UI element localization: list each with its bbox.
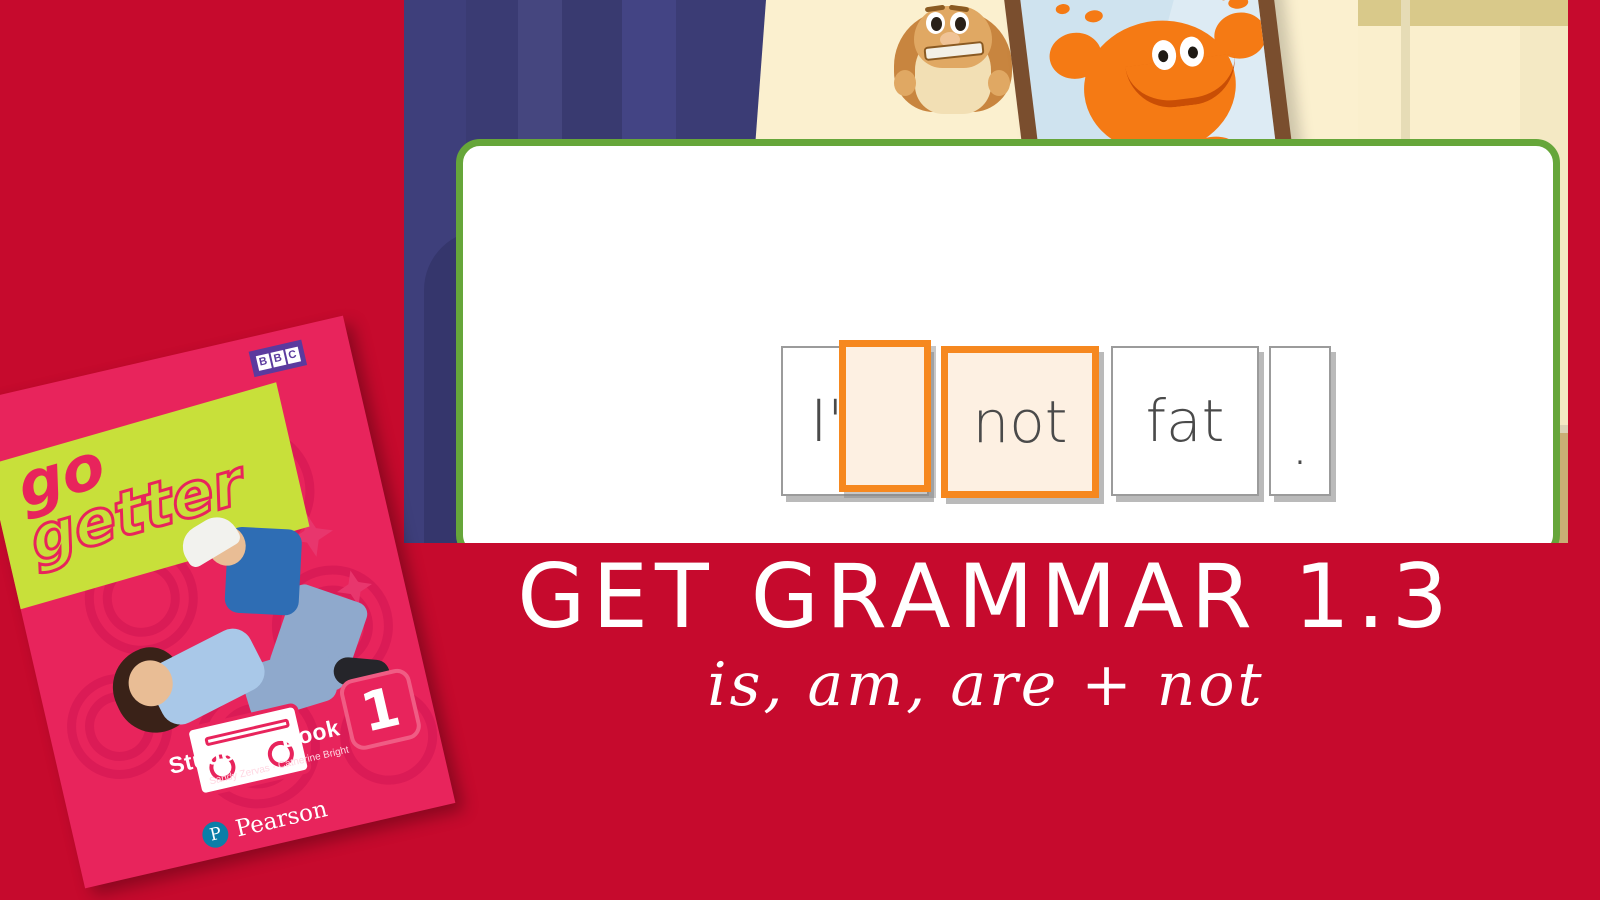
word-card-period[interactable]: . (1269, 346, 1331, 496)
word-card-label: not (973, 388, 1068, 456)
word-card-label: . (1291, 410, 1309, 478)
title-block: GET GRAMMAR 1.3 is, am, are + not (404, 552, 1568, 720)
hamster-character (888, 0, 1018, 112)
page-subtitle: is, am, are + not (404, 650, 1568, 720)
ceiling-strip (1358, 0, 1568, 26)
word-card-im-highlight-overlay[interactable] (839, 340, 931, 492)
whiteboard-panel: I'm not fat . (456, 139, 1560, 543)
word-card-not[interactable]: not (941, 346, 1099, 498)
book-cover: BBC go getter 1 Students' Book Sandy Zer… (0, 316, 455, 889)
word-card-fat[interactable]: fat (1111, 346, 1259, 496)
word-card-label: fat (1146, 387, 1225, 455)
lesson-scene: I'm not fat . (404, 0, 1568, 543)
page-title: GET GRAMMAR 1.3 (404, 552, 1568, 642)
